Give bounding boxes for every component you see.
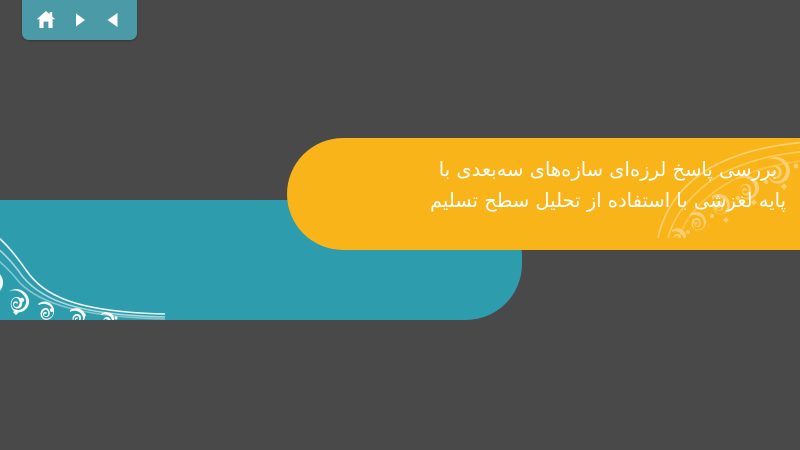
back-icon: [103, 10, 123, 30]
back-button[interactable]: [100, 7, 126, 33]
presentation-slide: بررسی پاسخ لرزه‌ای سازه‌های سه‌بعدی با پ…: [0, 0, 800, 450]
navigation-bar: [22, 0, 137, 40]
forward-icon: [70, 10, 90, 30]
slide-title: بررسی پاسخ لرزه‌ای سازه‌های سه‌بعدی با پ…: [287, 154, 800, 216]
forward-button[interactable]: [67, 7, 93, 33]
title-line-1: بررسی پاسخ لرزه‌ای سازه‌های سه‌بعدی با: [402, 154, 800, 185]
title-line-2: پایه لغزشی با استفاده از تحلیل سطح تسلیم: [402, 185, 800, 216]
orange-banner: بررسی پاسخ لرزه‌ای سازه‌های سه‌بعدی با پ…: [287, 138, 800, 250]
home-icon: [35, 9, 57, 31]
home-button[interactable]: [33, 7, 59, 33]
arabesque-ornament-icon: [0, 200, 165, 320]
